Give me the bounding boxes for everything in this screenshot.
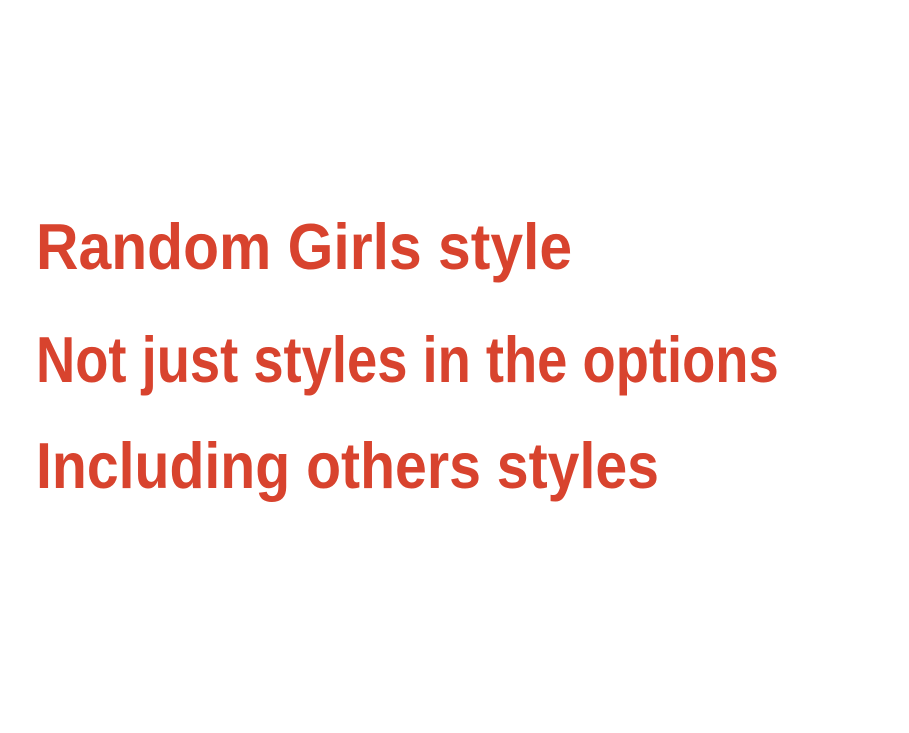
headline-line-1: Random Girls style (36, 214, 572, 279)
headline-line-2: Not just styles in the options (36, 327, 779, 392)
promo-text-block: Random Girls style Not just styles in th… (0, 0, 909, 733)
headline-line-3: Including others styles (36, 433, 659, 498)
page-canvas: Random Girls style Not just styles in th… (0, 0, 909, 733)
